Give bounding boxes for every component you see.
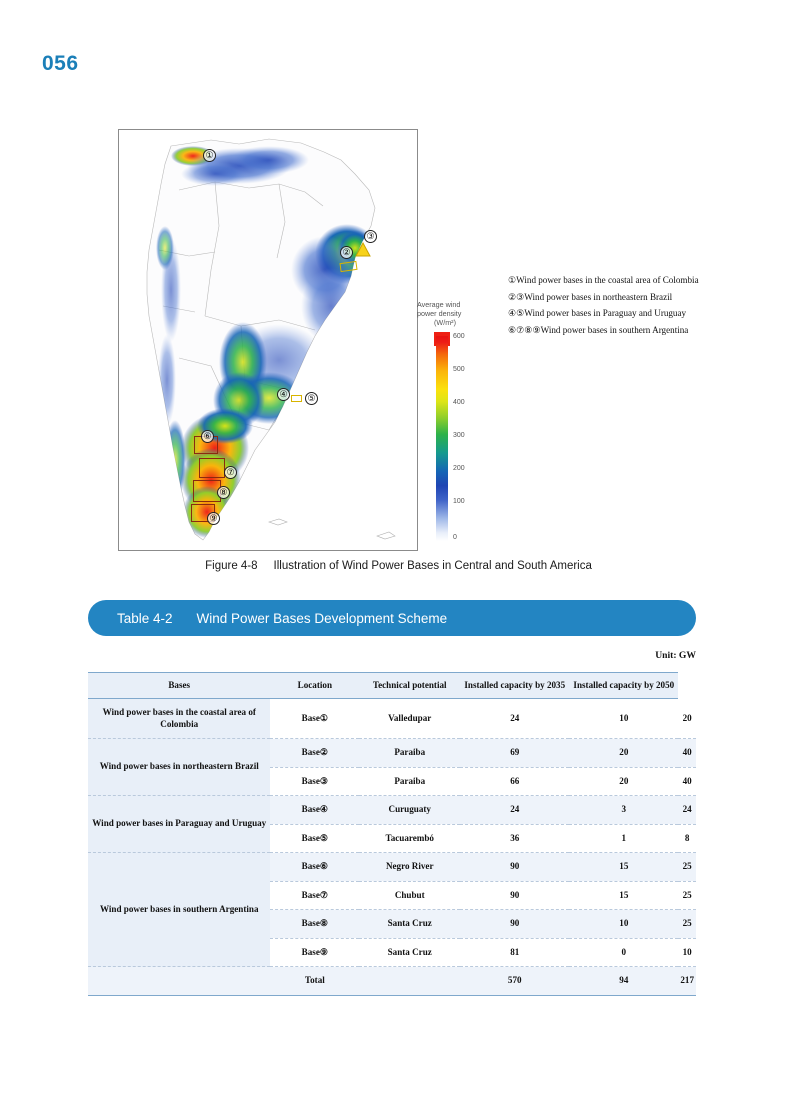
cell-technical-potential: 90 — [460, 853, 569, 882]
colorbar-gradient — [436, 336, 448, 541]
legend-line-1: ①Wind power bases in the coastal area of… — [508, 272, 703, 289]
map-marker-6: ⑥ — [201, 430, 214, 443]
colorbar-tick-400: 400 — [453, 399, 465, 406]
legend-line-3: ④⑤Wind power bases in Paraguay and Urugu… — [508, 305, 703, 322]
wind-power-bases-table: Bases Location Technical potential Insta… — [88, 672, 696, 996]
map-marker-9: ⑨ — [207, 512, 220, 525]
cell-base: Base⑤ — [270, 824, 359, 853]
colorbar-tick-100: 100 — [453, 498, 465, 505]
cell-base: Base⑨ — [270, 938, 359, 967]
map-marker-8: ⑧ — [217, 486, 230, 499]
cell-location: Negro River — [359, 853, 460, 882]
header-installed-2035: Installed capacity by 2035 — [460, 673, 569, 699]
cell-installed-2035: 10 — [569, 910, 678, 939]
cell-location: Paraiba — [359, 767, 460, 796]
cell-technical-potential: 81 — [460, 938, 569, 967]
table-row: Wind power bases in the coastal area of … — [88, 699, 696, 739]
map-marker-4: ④ — [277, 388, 290, 401]
cell-installed-2050: 24 — [678, 796, 696, 825]
cell-installed-2035: 20 — [569, 767, 678, 796]
figure-legend-list: ①Wind power bases in the coastal area of… — [508, 272, 703, 338]
total-installed-2050: 217 — [678, 967, 696, 996]
cell-location: Santa Cruz — [359, 910, 460, 939]
cell-base: Base③ — [270, 767, 359, 796]
figure-caption: Figure 4-8Illustration of Wind Power Bas… — [0, 560, 797, 572]
colorbar-tick-500: 500 — [453, 366, 465, 373]
total-technical-potential: 570 — [460, 967, 569, 996]
cell-technical-potential: 24 — [460, 796, 569, 825]
table-banner: Table 4-2 Wind Power Bases Development S… — [88, 600, 696, 636]
map-marker-7: ⑦ — [224, 466, 237, 479]
cell-location: Valledupar — [359, 699, 460, 739]
cell-installed-2050: 40 — [678, 739, 696, 768]
cell-installed-2035: 1 — [569, 824, 678, 853]
figure-wind-map: ① ② ③ ④ ⑤ ⑥ ⑦ ⑧ ⑨ — [118, 129, 418, 551]
total-label: Total — [270, 967, 359, 996]
figure-caption-title: Illustration of Wind Power Bases in Cent… — [274, 560, 592, 572]
cell-installed-2035: 20 — [569, 739, 678, 768]
cell-technical-potential: 90 — [460, 910, 569, 939]
cell-installed-2050: 8 — [678, 824, 696, 853]
cell-installed-2050: 10 — [678, 938, 696, 967]
colorbar-tick-200: 200 — [453, 465, 465, 472]
group-label-colombia: Wind power bases in the coastal area of … — [88, 699, 270, 739]
table-row: Wind power bases in northeastern Brazil … — [88, 739, 696, 768]
cell-installed-2035: 15 — [569, 881, 678, 910]
base-polygon-5 — [291, 395, 302, 402]
header-location: Location — [270, 673, 359, 699]
cell-installed-2035: 10 — [569, 699, 678, 739]
map-marker-2: ② — [340, 246, 353, 259]
cell-technical-potential: 36 — [460, 824, 569, 853]
header-installed-2050: Installed capacity by 2050 — [569, 673, 678, 699]
table-row: Wind power bases in Paraguay and Uruguay… — [88, 796, 696, 825]
header-technical-potential: Technical potential — [359, 673, 460, 699]
south-america-outline — [119, 130, 418, 551]
total-location — [359, 967, 460, 996]
cell-location: Tacuarembó — [359, 824, 460, 853]
figure-caption-label: Figure 4-8 — [205, 560, 257, 572]
legend-line-4: ⑥⑦⑧⑨Wind power bases in southern Argenti… — [508, 322, 703, 339]
table-banner-title: Wind Power Bases Development Scheme — [197, 611, 448, 626]
cell-base: Base① — [270, 699, 359, 739]
cell-installed-2035: 3 — [569, 796, 678, 825]
cell-base: Base⑦ — [270, 881, 359, 910]
group-label-brazil: Wind power bases in northeastern Brazil — [88, 739, 270, 796]
table-banner-label: Table 4-2 — [117, 611, 173, 626]
cell-location: Santa Cruz — [359, 938, 460, 967]
cell-location: Chubut — [359, 881, 460, 910]
table-header-row: Bases Location Technical potential Insta… — [88, 673, 696, 699]
cell-technical-potential: 90 — [460, 881, 569, 910]
map-marker-5: ⑤ — [305, 392, 318, 405]
total-spacer — [88, 967, 270, 996]
colorbar-tick-600: 600 — [453, 333, 465, 340]
colorbar-tick-0: 0 — [453, 534, 457, 541]
base-triangle-3 — [355, 242, 371, 257]
colorbar-title: Average wind power density (W/m²) — [417, 300, 489, 327]
cell-location: Curuguaty — [359, 796, 460, 825]
legend-line-2: ②③Wind power bases in northeastern Brazi… — [508, 289, 703, 306]
map-canvas: ① ② ③ ④ ⑤ ⑥ ⑦ ⑧ ⑨ — [119, 130, 417, 550]
cell-installed-2050: 20 — [678, 699, 696, 739]
page-number: 056 — [42, 52, 79, 76]
table-total-row: Total 570 94 217 — [88, 967, 696, 996]
colorbar-title-line1: Average wind — [417, 300, 460, 309]
cell-installed-2035: 15 — [569, 853, 678, 882]
cell-location: Paraiba — [359, 739, 460, 768]
cell-base: Base② — [270, 739, 359, 768]
map-frame: ① ② ③ ④ ⑤ ⑥ ⑦ ⑧ ⑨ — [118, 129, 418, 551]
table-unit-note: Unit: GW — [88, 650, 696, 661]
colorbar-legend: Average wind power density (W/m²) 600 50… — [417, 300, 497, 552]
map-marker-1: ① — [203, 149, 216, 162]
cell-technical-potential: 24 — [460, 699, 569, 739]
colorbar-unit: (W/m²) — [417, 318, 473, 327]
cell-installed-2035: 0 — [569, 938, 678, 967]
group-label-paraguay-uruguay: Wind power bases in Paraguay and Uruguay — [88, 796, 270, 853]
base-polygon-7 — [199, 458, 225, 478]
cell-technical-potential: 69 — [460, 739, 569, 768]
cell-installed-2050: 25 — [678, 881, 696, 910]
map-marker-3: ③ — [364, 230, 377, 243]
colorbar-tick-300: 300 — [453, 432, 465, 439]
cell-installed-2050: 25 — [678, 853, 696, 882]
cell-installed-2050: 25 — [678, 910, 696, 939]
cell-base: Base④ — [270, 796, 359, 825]
cell-base: Base⑥ — [270, 853, 359, 882]
header-bases: Bases — [88, 673, 270, 699]
cell-installed-2050: 40 — [678, 767, 696, 796]
cell-technical-potential: 66 — [460, 767, 569, 796]
group-label-southern-argentina: Wind power bases in southern Argentina — [88, 853, 270, 967]
table-row: Wind power bases in southern Argentina B… — [88, 853, 696, 882]
colorbar-title-line2: power density — [417, 309, 461, 318]
total-installed-2035: 94 — [569, 967, 678, 996]
cell-base: Base⑧ — [270, 910, 359, 939]
